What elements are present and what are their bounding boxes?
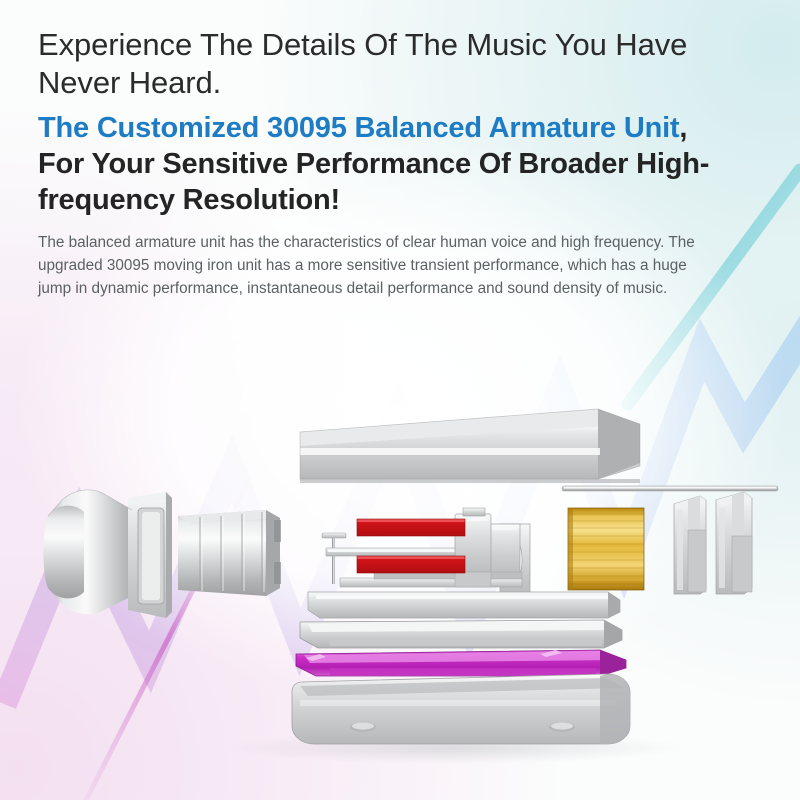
part-magnet-upper — [357, 519, 465, 536]
headline-secondary: The Customized 30095 Balanced Armature U… — [38, 110, 738, 218]
part-contact-pin-left — [674, 496, 706, 594]
part-armature-reed — [326, 508, 530, 596]
page-title: Experience The Details Of The Music You … — [38, 26, 768, 102]
part-support-plate — [308, 592, 620, 618]
part-drive-pin — [322, 533, 346, 584]
part-top-cover-shell — [300, 409, 640, 483]
waveform-polyline — [4, 296, 800, 704]
body-paragraph: The balanced armature unit has the chara… — [38, 231, 710, 300]
part-contact-pin-right — [716, 492, 752, 594]
part-shim-plate — [300, 620, 622, 648]
part-lead-wire — [562, 486, 778, 491]
part-base-housing — [292, 674, 630, 744]
part-voice-coil — [568, 508, 644, 590]
headline-accent-text: The Customized 30095 Balanced Armature U… — [38, 112, 679, 144]
diagram-shadow — [225, 732, 685, 764]
marketing-text-block: Experience The Details Of The Music You … — [38, 26, 768, 300]
product-banner-page: Experience The Details Of The Music You … — [0, 0, 800, 800]
magenta-diagonal-stroke — [86, 462, 258, 800]
part-magnet-lower — [357, 556, 465, 573]
part-sound-tube — [178, 510, 281, 596]
part-diaphragm — [296, 650, 626, 676]
part-nozzle-body — [44, 490, 173, 618]
